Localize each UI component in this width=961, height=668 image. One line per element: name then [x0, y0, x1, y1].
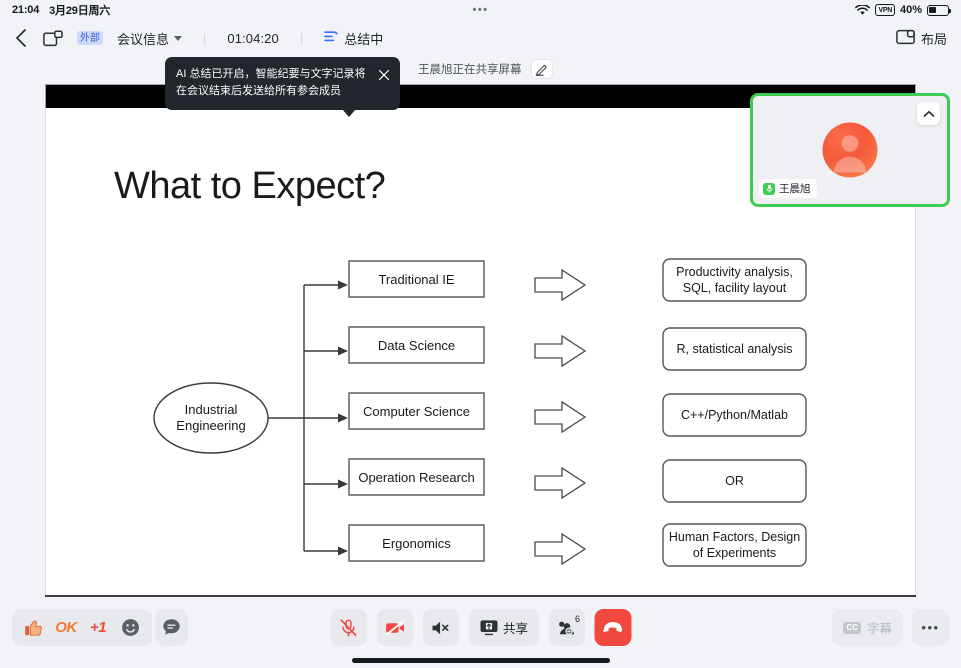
diagram-root-line1: Industrial: [185, 402, 238, 417]
participants-button[interactable]: 6: [548, 609, 585, 646]
more-dots-icon: •••: [921, 624, 939, 632]
emoji-reaction[interactable]: [115, 613, 145, 643]
ai-summary-tooltip: AI 总结已开启，智能纪要与文字记录将在会议结束后发送给所有参会成员: [165, 57, 400, 110]
block-arrow-right-icon: [535, 468, 585, 498]
chevron-down-icon: [174, 36, 182, 41]
diagram-outcome-line1: R, statistical analysis: [676, 342, 792, 356]
meeting-toolbar: OK +1: [0, 597, 961, 668]
avatar-icon: [823, 123, 878, 178]
participant-name-label: 王晨旭: [779, 181, 811, 196]
close-icon[interactable]: [378, 68, 390, 80]
share-screen-label: 共享: [503, 618, 528, 637]
meeting-timer: 01:04:20: [227, 31, 278, 46]
ai-summary-icon: [324, 30, 339, 46]
navbar-divider-1: |: [203, 31, 206, 46]
diagram-branch-label: Traditional IE: [378, 272, 454, 287]
diagram-outcome-line1: OR: [725, 474, 744, 488]
diagram-outcome-line1: C++/Python/Matlab: [681, 408, 788, 422]
ok-reaction[interactable]: OK: [51, 613, 81, 643]
dynamic-island-dots: •••: [472, 6, 488, 14]
diagram-outcome-line1: Productivity analysis,: [676, 265, 793, 279]
status-date: 3月29日周六: [49, 2, 110, 18]
diagram-branch-label: Ergonomics: [382, 536, 451, 551]
participants-count: 6: [575, 614, 580, 624]
cc-badge-icon: CC: [843, 622, 861, 634]
status-time: 21:04: [12, 4, 39, 16]
secondary-controls: CC 字幕 •••: [832, 609, 949, 646]
hangup-icon: [602, 621, 623, 635]
ai-summary-status[interactable]: 总结中: [324, 29, 383, 48]
reactions-bar: OK +1: [12, 609, 152, 646]
more-options-button[interactable]: •••: [912, 609, 949, 646]
share-notice: 王晨旭正在共享屏幕: [418, 60, 552, 78]
participants-icon: [556, 618, 577, 637]
participant-name-chip: 王晨旭: [759, 179, 817, 198]
annotate-pen-icon[interactable]: [532, 60, 552, 78]
diagram-root-line2: Engineering: [176, 418, 245, 433]
chevron-up-icon[interactable]: [917, 102, 940, 125]
mic-on-icon: [763, 183, 775, 195]
speaker-toggle-button[interactable]: [422, 609, 459, 646]
share-screen-button[interactable]: 共享: [468, 609, 539, 646]
speaker-muted-icon: [430, 619, 451, 637]
external-badge: 外部: [77, 31, 103, 45]
battery-icon: [927, 5, 949, 16]
camera-off-icon: [384, 618, 405, 638]
layout-button[interactable]: 布局: [896, 29, 947, 48]
diagram-branch-label: Operation Research: [358, 470, 474, 485]
meeting-info-dropdown[interactable]: 会议信息: [117, 29, 182, 48]
ai-summary-label: 总结中: [344, 29, 383, 48]
meeting-navbar: 外部 会议信息 | 01:04:20 | 总结中: [0, 20, 961, 56]
block-arrow-right-icon: [535, 336, 585, 366]
vpn-badge: VPN: [875, 4, 895, 16]
camera-toggle-button[interactable]: [376, 609, 413, 646]
block-arrow-right-icon: [535, 402, 585, 432]
diagram-branch-label: Computer Science: [363, 404, 470, 419]
captions-button[interactable]: CC 字幕: [832, 609, 903, 646]
diagram-branch-label: Data Science: [378, 338, 455, 353]
meeting-app-window: 21:04 3月29日周六 ••• VPN 40%: [0, 0, 961, 668]
chat-button[interactable]: [155, 609, 188, 646]
mic-muted-icon: [338, 618, 358, 638]
layout-icon: [896, 29, 915, 48]
plus-one-reaction[interactable]: +1: [83, 613, 113, 643]
meeting-info-label: 会议信息: [117, 29, 169, 48]
diagram-outcome-line1: Human Factors, Design: [669, 530, 800, 544]
wifi-icon: [855, 5, 870, 16]
chat-bubble-icon: [162, 618, 181, 637]
captions-label: 字幕: [867, 618, 892, 637]
chevron-left-icon[interactable]: [14, 28, 29, 48]
smiley-icon: [121, 618, 140, 637]
block-arrow-right-icon: [535, 534, 585, 564]
ok-text-icon: OK: [55, 619, 77, 636]
status-bar: 21:04 3月29日周六 ••• VPN 40%: [0, 0, 961, 20]
share-screen-icon: [479, 619, 498, 636]
thumbs-up-reaction[interactable]: [19, 613, 49, 643]
hangup-button[interactable]: [594, 609, 631, 646]
picture-in-picture-icon[interactable]: [43, 30, 63, 47]
navbar-divider-2: |: [300, 31, 303, 46]
diagram-outcome-line2: of Experiments: [693, 546, 776, 560]
layout-label: 布局: [921, 29, 947, 48]
share-notice-text: 王晨旭正在共享屏幕: [418, 61, 522, 77]
block-arrow-right-icon: [535, 270, 585, 300]
plus-one-text-icon: +1: [90, 619, 106, 636]
primary-controls: 共享 6: [330, 609, 631, 646]
home-indicator: [352, 658, 610, 663]
ai-tooltip-text: AI 总结已开启，智能纪要与文字记录将在会议结束后发送给所有参会成员: [176, 66, 372, 100]
diagram-outcome-line2: SQL, facility layout: [683, 281, 787, 295]
battery-percent: 40%: [900, 4, 922, 16]
participant-video-tile[interactable]: 王晨旭: [750, 93, 950, 207]
mic-toggle-button[interactable]: [330, 609, 367, 646]
